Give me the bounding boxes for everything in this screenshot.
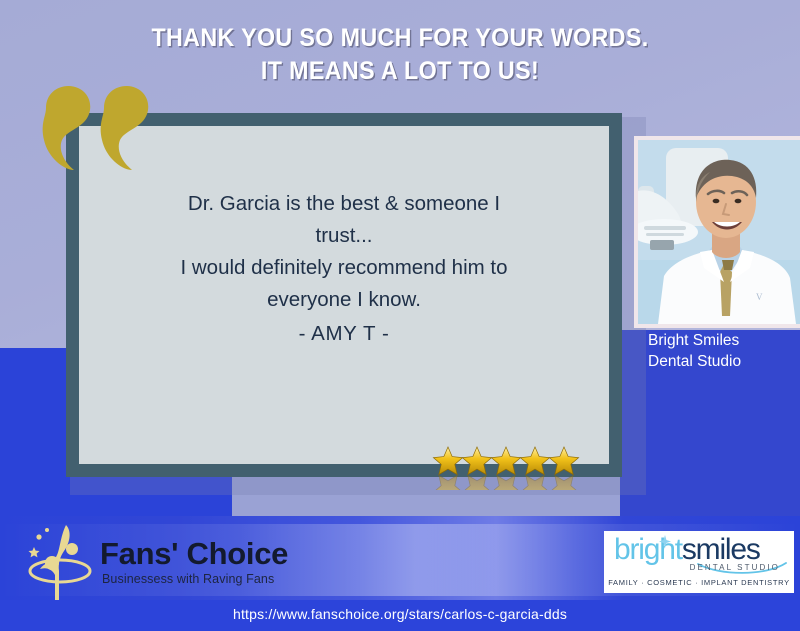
- star-rating: [432, 446, 584, 490]
- fans-choice-logo-icon: [22, 519, 98, 605]
- testimonial-card-inner: Dr. Garcia is the best & someone I trust…: [79, 126, 609, 464]
- dentist-photo-frame: V: [634, 136, 800, 328]
- fans-choice-wordmark: Fans' Choice: [100, 536, 288, 572]
- quote-line-2: trust...: [117, 220, 571, 252]
- dentist-photo: V: [638, 140, 800, 324]
- bright-smiles-logo: brightsmiles DENTAL STUDIO FAMILY · COSM…: [604, 531, 794, 593]
- sparkle-icon: [656, 535, 674, 549]
- practice-name-line-1: Bright Smiles: [648, 330, 800, 351]
- quote-line-3: I would definitely recommend him to: [117, 252, 571, 284]
- bright-smiles-tagline: FAMILY · COSMETIC · IMPLANT DENTISTRY: [604, 578, 794, 587]
- fans-choice-tagline: Businessess with Raving Fans: [102, 572, 274, 586]
- source-url[interactable]: https://www.fanschoice.org/stars/carlos-…: [0, 606, 800, 622]
- quote-text: Dr. Garcia is the best & someone I trust…: [117, 188, 571, 316]
- practice-name: Bright Smiles Dental Studio: [640, 326, 800, 374]
- quote-line-4: everyone I know.: [117, 284, 571, 316]
- quotation-mark-icon: [30, 78, 150, 190]
- svg-text:V: V: [756, 292, 763, 302]
- bright-smiles-subtitle: DENTAL STUDIO: [690, 563, 780, 572]
- quote-line-1: Dr. Garcia is the best & someone I: [117, 188, 571, 220]
- testimonial-graphic: THANK YOU SO MUCH FOR YOUR WORDS. IT MEA…: [0, 0, 800, 631]
- headline-line-1: THANK YOU SO MUCH FOR YOUR WORDS.: [28, 22, 772, 55]
- practice-name-line-2: Dental Studio: [648, 351, 800, 372]
- quote-attribution: - AMY T -: [79, 322, 609, 346]
